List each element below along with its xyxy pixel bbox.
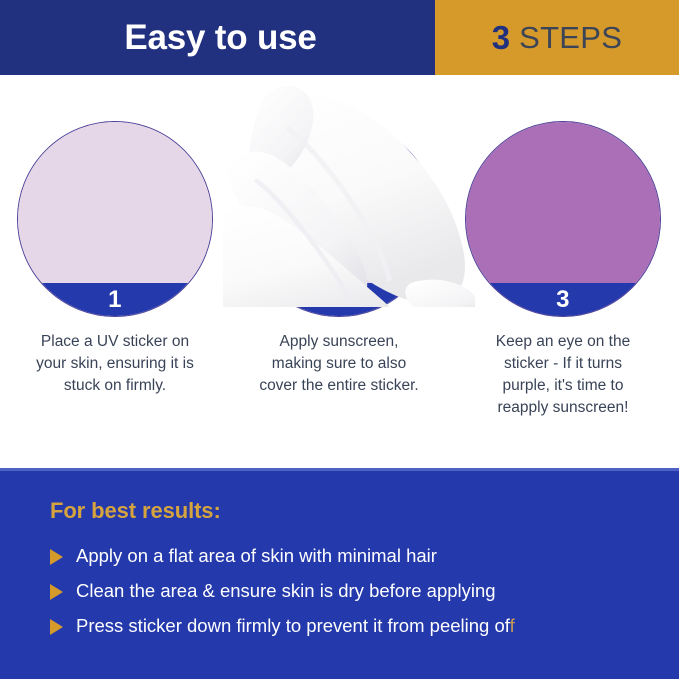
caption-line: your skin, ensuring it is xyxy=(8,353,222,375)
triangle-bullet-icon xyxy=(50,549,63,565)
caption-line: purple, it's time to xyxy=(456,375,670,397)
list-item-label: Press sticker down firmly to prevent it … xyxy=(76,617,515,636)
page-title: Easy to use xyxy=(118,20,316,55)
caption-line: sticker - If it turns xyxy=(456,353,670,375)
list-item-label: Clean the area & ensure skin is dry befo… xyxy=(76,582,496,601)
triangle-bullet-icon xyxy=(50,584,63,600)
step-card-2: 2 xyxy=(226,75,452,468)
caption-line: reapply sunscreen! xyxy=(456,397,670,419)
step-card-1: 1 Place a UV sticker on your skin, ensur… xyxy=(2,75,228,468)
caption-line: making sure to also xyxy=(232,353,446,375)
list-item-label: Apply on a flat area of skin with minima… xyxy=(76,547,437,566)
list-item-clipped-tail: f xyxy=(510,615,515,636)
infographic-page: Easy to use 3 STEPS 1 Place a UV sticker… xyxy=(0,0,679,679)
triangle-bullet-icon xyxy=(50,619,63,635)
list-item: Press sticker down firmly to prevent it … xyxy=(50,609,671,644)
caption-line: cover the entire sticker. xyxy=(232,375,446,397)
step-2-number: 2 xyxy=(332,288,346,312)
list-item-text: Press sticker down firmly to prevent it … xyxy=(76,615,510,636)
step-1-circle: 1 xyxy=(17,121,213,317)
caption-line: Apply sunscreen, xyxy=(232,331,446,353)
step-count: 3 xyxy=(492,21,510,54)
caption-line: Keep an eye on the xyxy=(456,331,670,353)
list-item: Clean the area & ensure skin is dry befo… xyxy=(50,574,671,609)
step-2-number-band: 2 xyxy=(242,283,436,316)
step-1-caption: Place a UV sticker on your skin, ensurin… xyxy=(2,331,228,397)
step-3-number-band: 3 xyxy=(466,283,660,316)
step-3-number: 3 xyxy=(556,288,570,312)
step-2-illustration: 2 xyxy=(241,121,437,317)
step-card-3: 3 Keep an eye on the sticker - If it tur… xyxy=(450,75,676,468)
best-results-list: Apply on a flat area of skin with minima… xyxy=(50,539,671,644)
caption-line: stuck on firmly. xyxy=(8,375,222,397)
step-3-illustration: 3 xyxy=(465,121,661,317)
step-1-number-band: 1 xyxy=(18,283,212,316)
step-3-caption: Keep an eye on the sticker - If it turns… xyxy=(450,331,676,419)
steps-section: 1 Place a UV sticker on your skin, ensur… xyxy=(0,75,679,468)
step-3-circle: 3 xyxy=(465,121,661,317)
step-1-number: 1 xyxy=(108,288,122,312)
caption-line: Place a UV sticker on xyxy=(8,331,222,353)
panel-title: For best results: xyxy=(50,500,221,522)
header-bar: Easy to use 3 STEPS xyxy=(0,0,679,75)
header-steps-block: 3 STEPS xyxy=(435,0,679,75)
step-2-caption: Apply sunscreen, making sure to also cov… xyxy=(226,331,452,397)
list-item: Apply on a flat area of skin with minima… xyxy=(50,539,671,574)
step-1-illustration: 1 xyxy=(17,121,213,317)
header-title-block: Easy to use xyxy=(0,0,435,75)
best-results-panel: For best results: Apply on a flat area o… xyxy=(0,468,679,679)
step-word: STEPS xyxy=(519,22,622,53)
step-2-circle: 2 xyxy=(241,121,437,317)
